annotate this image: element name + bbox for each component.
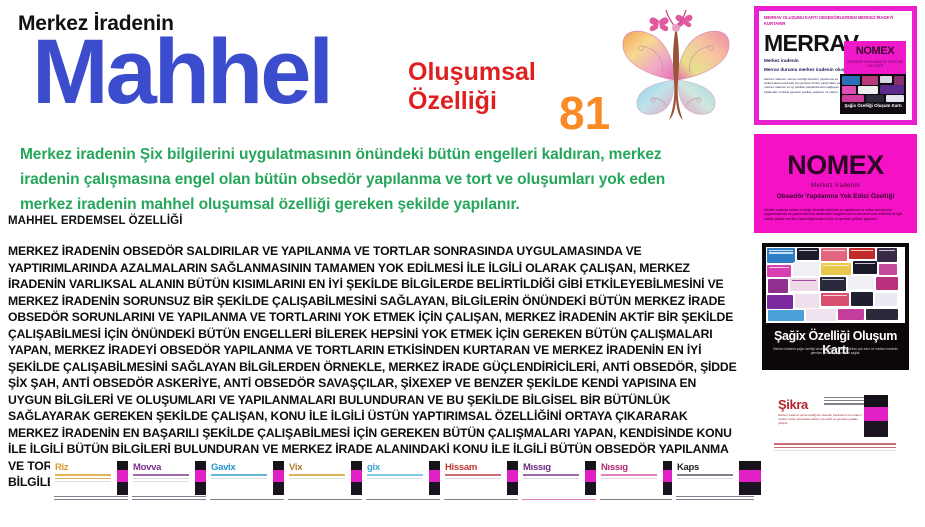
merrav-nomex-title: NOMEX <box>844 45 906 57</box>
thumbnail-lines <box>445 474 501 481</box>
sikra-thumb <box>864 395 888 437</box>
issue-number: 81 <box>559 90 610 136</box>
thumbnail-title: Riz <box>55 462 68 473</box>
thumbnail-footer <box>54 496 132 502</box>
sikra-title: Şikra <box>778 397 808 412</box>
thumbnail-title: gix <box>367 462 380 473</box>
intro-paragraph: Merkez iradenin Şix bilgilerini uygulatm… <box>20 142 720 217</box>
title-subtitle: Oluşumsal Özelliği <box>408 58 536 116</box>
merrav-body: Merkez iradenin merrav özelliği obsedör … <box>764 77 850 94</box>
poster-page: Merkez İradenin Mahhel Oluşumsal Özelliğ… <box>0 0 925 527</box>
title-subtitle-line1: Oluşumsal <box>408 58 536 87</box>
title-subtitle-line2: Özelliği <box>408 87 536 116</box>
merrav-band-text: MERRAV OLUŞUMU KARTI OBSEDÖRLERDEN MERKE… <box>764 15 907 27</box>
thumbnail-lines <box>55 474 111 484</box>
nomex-subtitle-2: Obsedör Yapılanma Yok Edici Özelliği <box>754 193 917 200</box>
page-title: Mahhel <box>32 26 331 118</box>
nomex-card[interactable]: NOMEX Merkez İradenin Obsedör Yapılanma … <box>754 134 917 233</box>
thumbnail-footer <box>288 499 366 502</box>
thumbnail-lines <box>601 474 657 481</box>
thumbnail-title: Movva <box>133 462 161 473</box>
side-rail: MERRAV OLUŞUMU KARTI OBSEDÖRLERDEN MERKE… <box>748 0 925 527</box>
thumbnail-row: Riz Movva Gavix <box>0 458 748 518</box>
butterfly-icon <box>612 2 740 128</box>
thumbnail-footer <box>132 496 210 502</box>
thumbnail-lines <box>677 474 733 481</box>
thumbnail-footer <box>600 499 678 502</box>
thumbnail-title: Gavix <box>211 462 235 473</box>
thumbnail-footer <box>210 499 288 502</box>
merrav-collage-caption: Şağix Özelliği Oluşum Kartı <box>840 103 906 108</box>
thumbnail-footer <box>366 499 444 502</box>
thumbnail-title: Mıssıg <box>523 462 551 473</box>
thumbnail-lines <box>211 474 267 481</box>
main-content: Merkez İradenin Mahhel Oluşumsal Özelliğ… <box>0 0 748 527</box>
merrav-nomex-sub: OBSEDÖR YAPILANMA VE TORTLARI YOK EDER <box>844 60 906 68</box>
sikra-footer-lines <box>774 443 896 453</box>
thumbnail-footer <box>676 496 754 502</box>
sikra-body: Merkez iradenin şikra özelliği ile obsed… <box>778 413 868 425</box>
thumbnail-lines <box>289 474 345 481</box>
sikra-card[interactable]: Şikra Merkez iradenin şikra özelliği ile… <box>760 385 910 457</box>
thumbnail-title: Hissam <box>445 462 477 473</box>
thumbnail-lines <box>367 474 423 481</box>
thumbnail-title: Kaps <box>677 462 699 473</box>
thumbnail-lines <box>523 474 579 481</box>
section-label: MAHHEL ERDEMSEL ÖZELLİĞİ <box>8 215 182 227</box>
sagix-card[interactable]: Şağix Özelliği Oluşum Kartı Merkez irade… <box>762 243 909 370</box>
nomex-body: Merkez iradenin nomex özelliği, obsedör … <box>764 208 907 221</box>
nomex-title: NOMEX <box>754 150 917 181</box>
thumbnail-title: Nıssıg <box>601 462 628 473</box>
thumbnail-footer <box>444 499 522 502</box>
thumbnail-lines <box>133 474 189 484</box>
merrav-collage: Şağix Özelliği Oluşum Kartı <box>840 74 906 114</box>
section-body: MERKEZ İRADENİN OBSEDÖR SALDIRILAR VE YA… <box>8 243 738 491</box>
sagix-footer: Merkez iradenin şağix özelliği obsedör y… <box>772 347 899 355</box>
thumbnail-footer <box>522 499 600 502</box>
merrav-card[interactable]: MERRAV OLUŞUMU KARTI OBSEDÖRLERDEN MERKE… <box>754 6 917 125</box>
thumbnail-title: Vix <box>289 462 302 473</box>
sagix-collage-grid <box>766 247 905 323</box>
nomex-subtitle-1: Merkez İradenin <box>754 183 917 189</box>
